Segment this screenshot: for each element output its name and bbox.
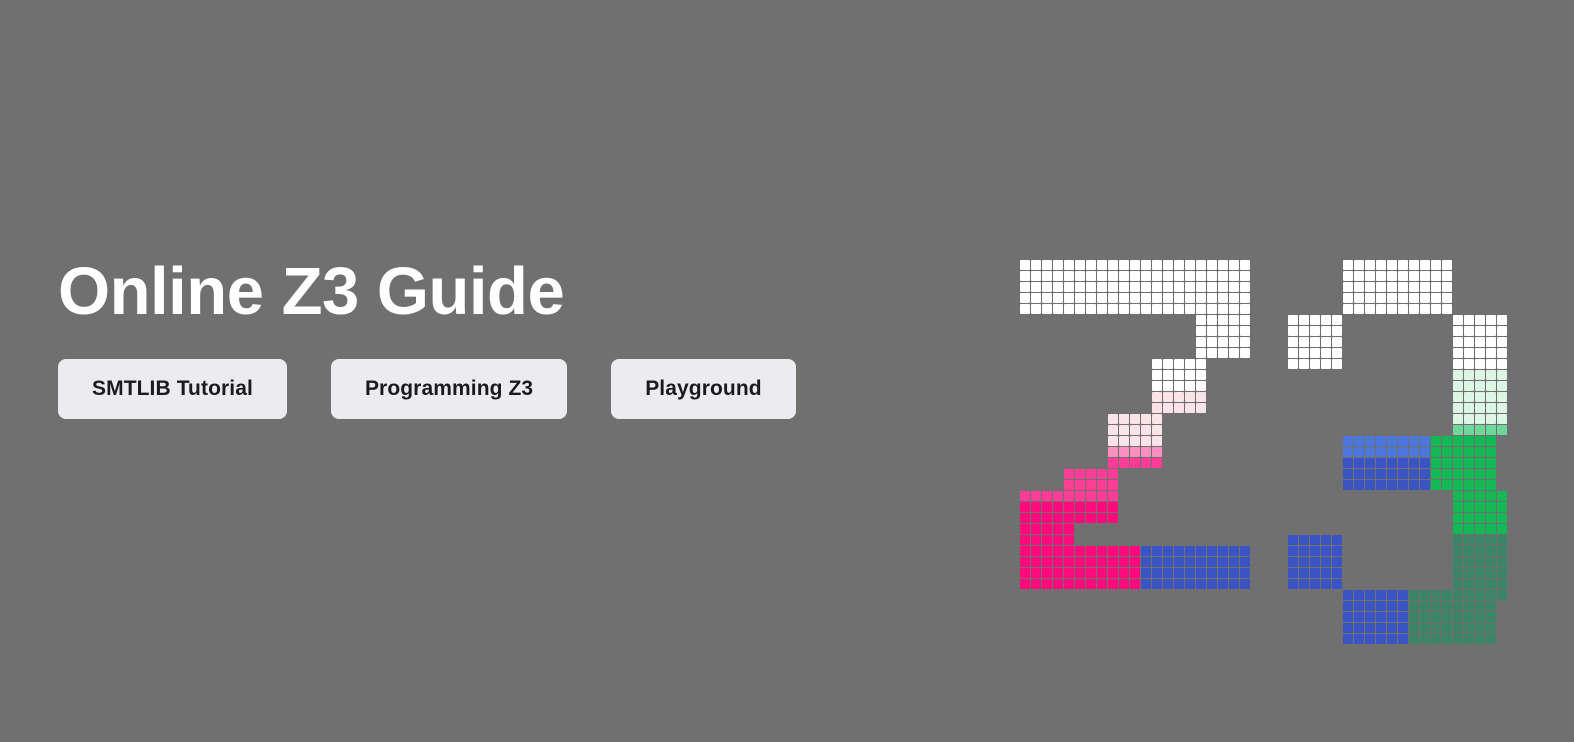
playground-button[interactable]: Playground <box>611 359 796 419</box>
cta-button-row: SMTLIB Tutorial Programming Z3 Playgroun… <box>58 359 958 419</box>
smtlib-tutorial-button[interactable]: SMTLIB Tutorial <box>58 359 287 419</box>
page-title: Online Z3 Guide <box>58 258 958 325</box>
hero-text-block: Online Z3 Guide SMTLIB Tutorial Programm… <box>58 258 958 419</box>
programming-z3-button[interactable]: Programming Z3 <box>331 359 567 419</box>
z3-pixel-logo <box>1020 260 1520 585</box>
hero-section: Online Z3 Guide SMTLIB Tutorial Programm… <box>0 0 1574 742</box>
